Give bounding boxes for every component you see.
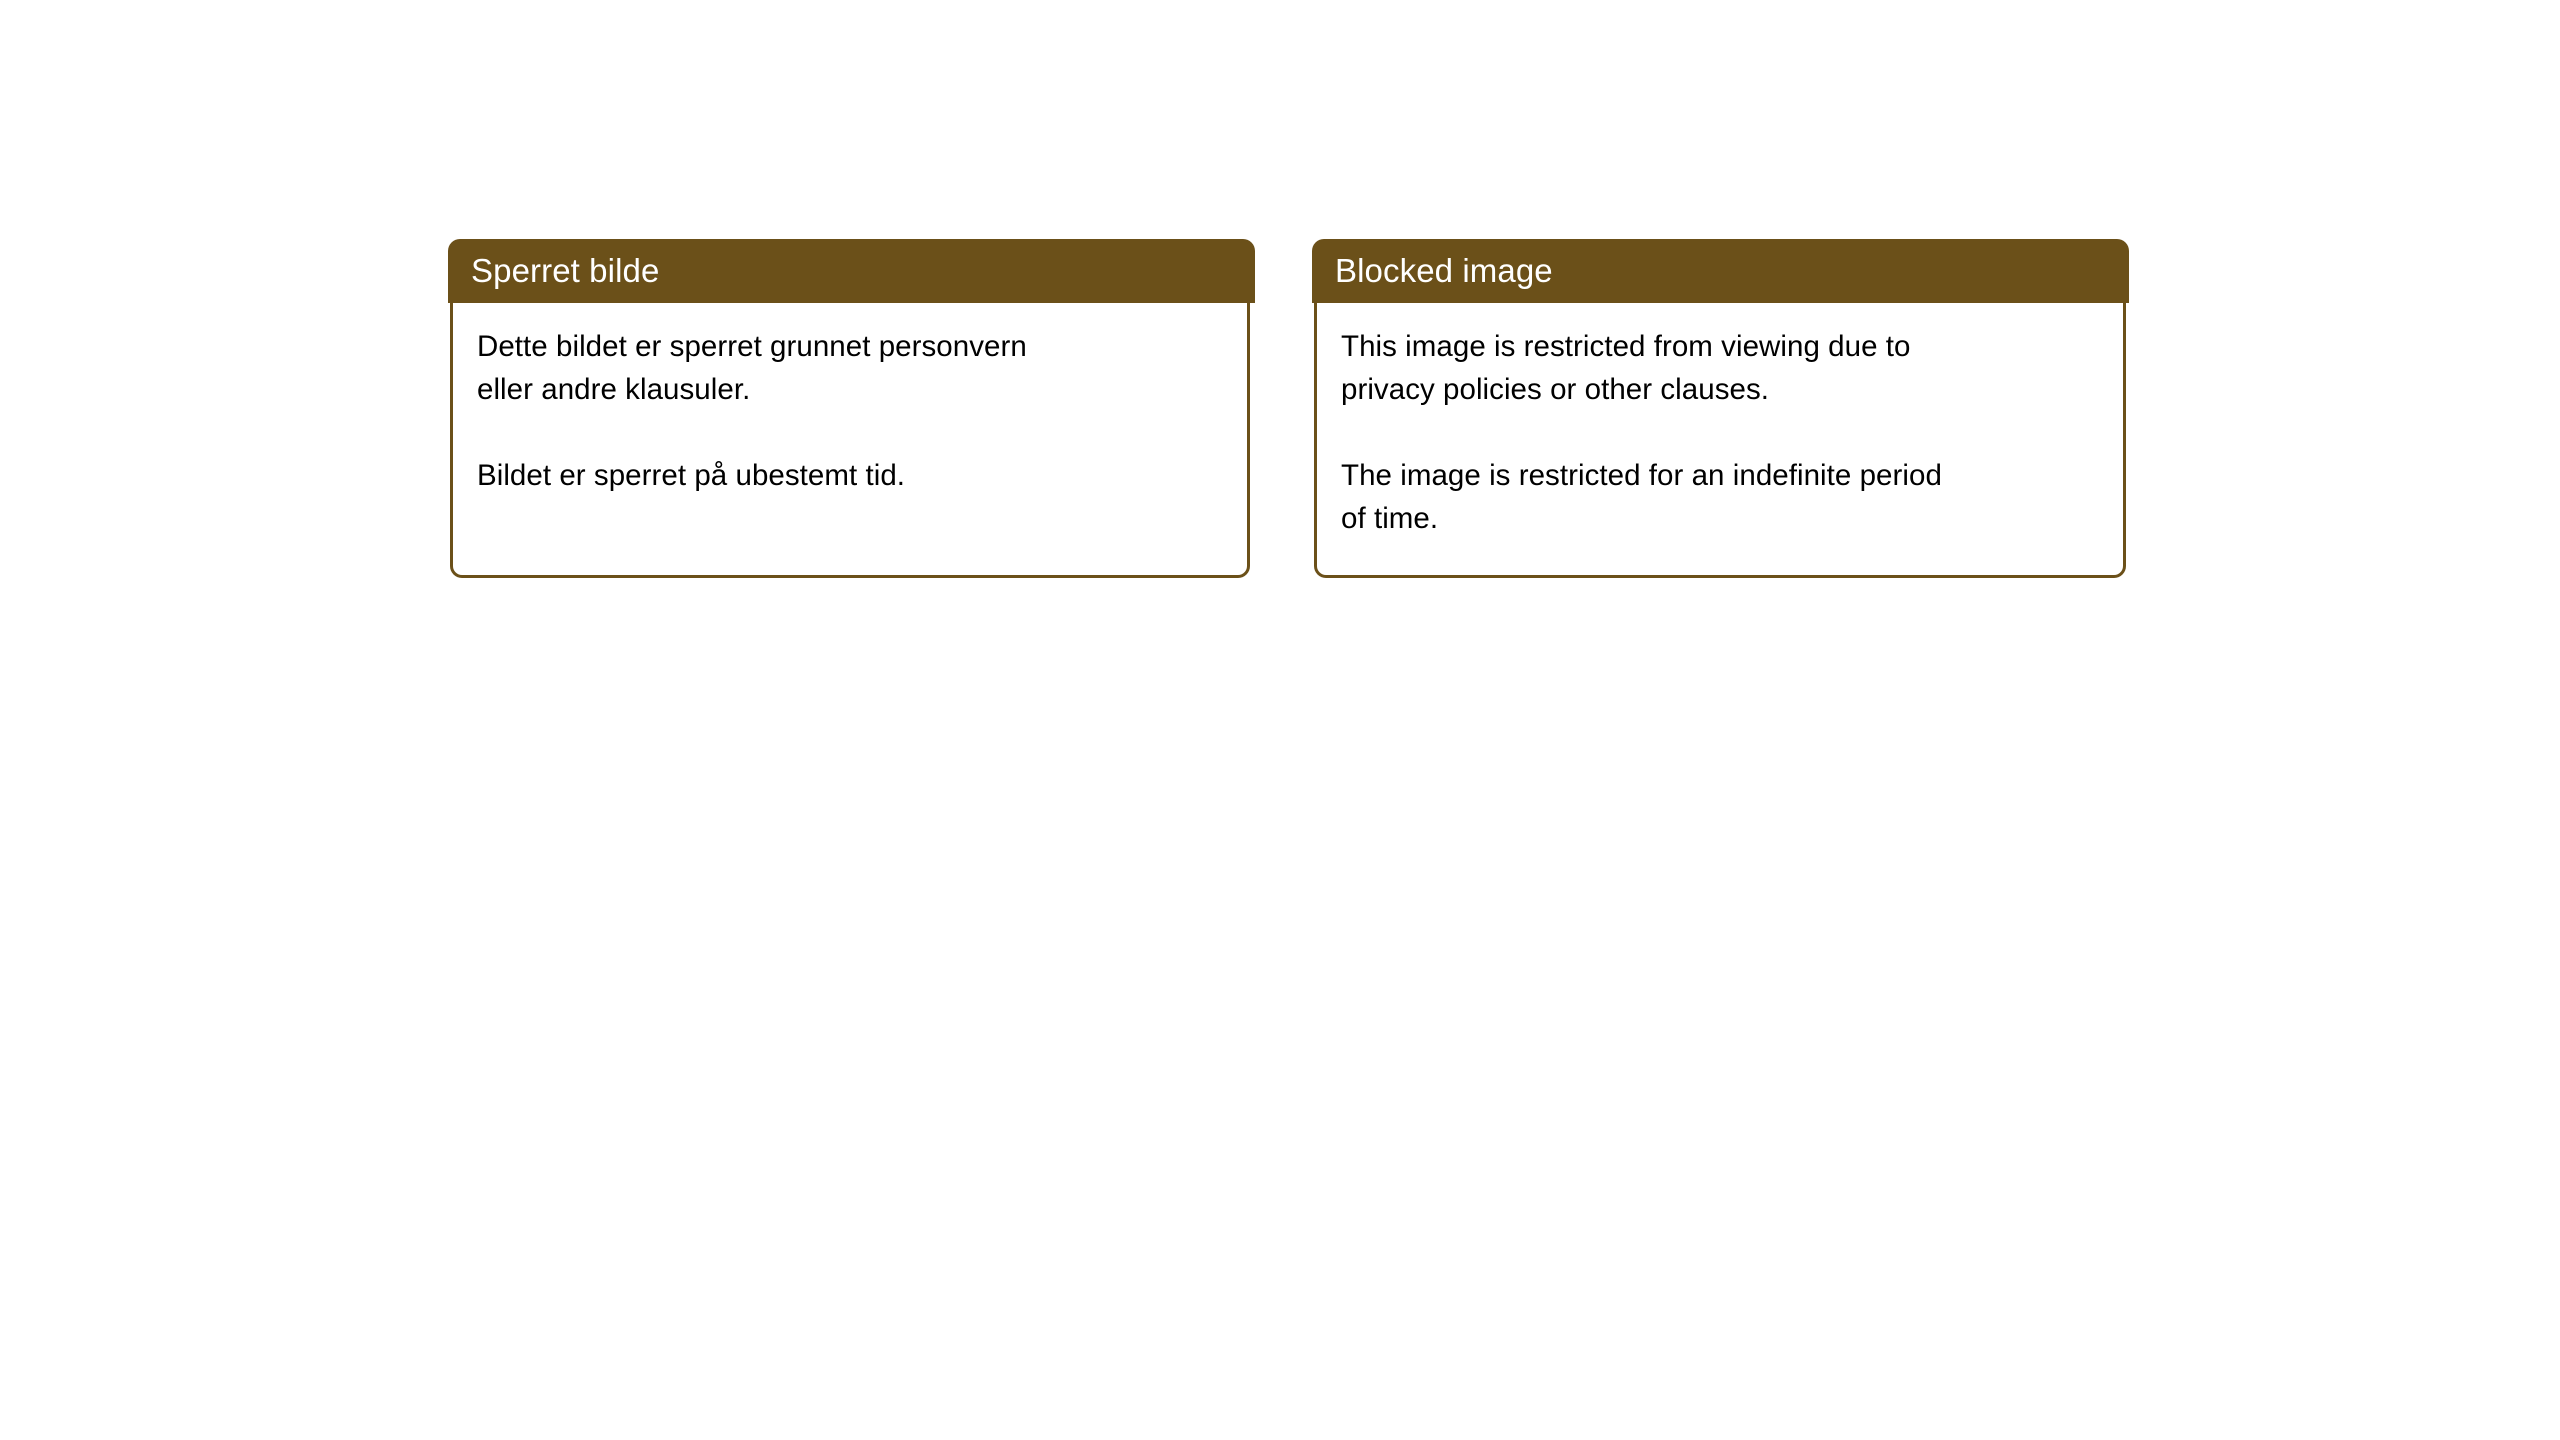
card-title-english: Blocked image [1335,254,1553,287]
card-body-english: This image is restricted from viewing du… [1314,303,2126,578]
card-paragraph-2-english: The image is restricted for an indefinit… [1341,454,2097,540]
card-header-english: Blocked image [1312,239,2129,303]
card-paragraph-1-norwegian: Dette bildet er sperret grunnet personve… [477,325,1221,411]
paragraph-line: The image is restricted for an indefinit… [1341,454,2097,497]
card-paragraph-1-english: This image is restricted from viewing du… [1341,325,2097,411]
paragraph-line: Dette bildet er sperret grunnet personve… [477,325,1221,368]
card-paragraph-2-norwegian: Bildet er sperret på ubestemt tid. [477,454,1221,497]
blocked-image-card-norwegian: Sperret bilde Dette bildet er sperret gr… [448,239,1255,578]
blocked-image-notice-stage: Sperret bilde Dette bildet er sperret gr… [0,0,2560,1440]
paragraph-line: privacy policies or other clauses. [1341,368,2097,411]
paragraph-line: This image is restricted from viewing du… [1341,325,2097,368]
paragraph-line: of time. [1341,497,2097,540]
blocked-image-card-english: Blocked image This image is restricted f… [1312,239,2129,578]
card-header-norwegian: Sperret bilde [448,239,1255,303]
paragraph-line: Bildet er sperret på ubestemt tid. [477,454,1221,497]
card-title-norwegian: Sperret bilde [471,254,659,287]
paragraph-line: eller andre klausuler. [477,368,1221,411]
card-body-norwegian: Dette bildet er sperret grunnet personve… [450,303,1250,578]
